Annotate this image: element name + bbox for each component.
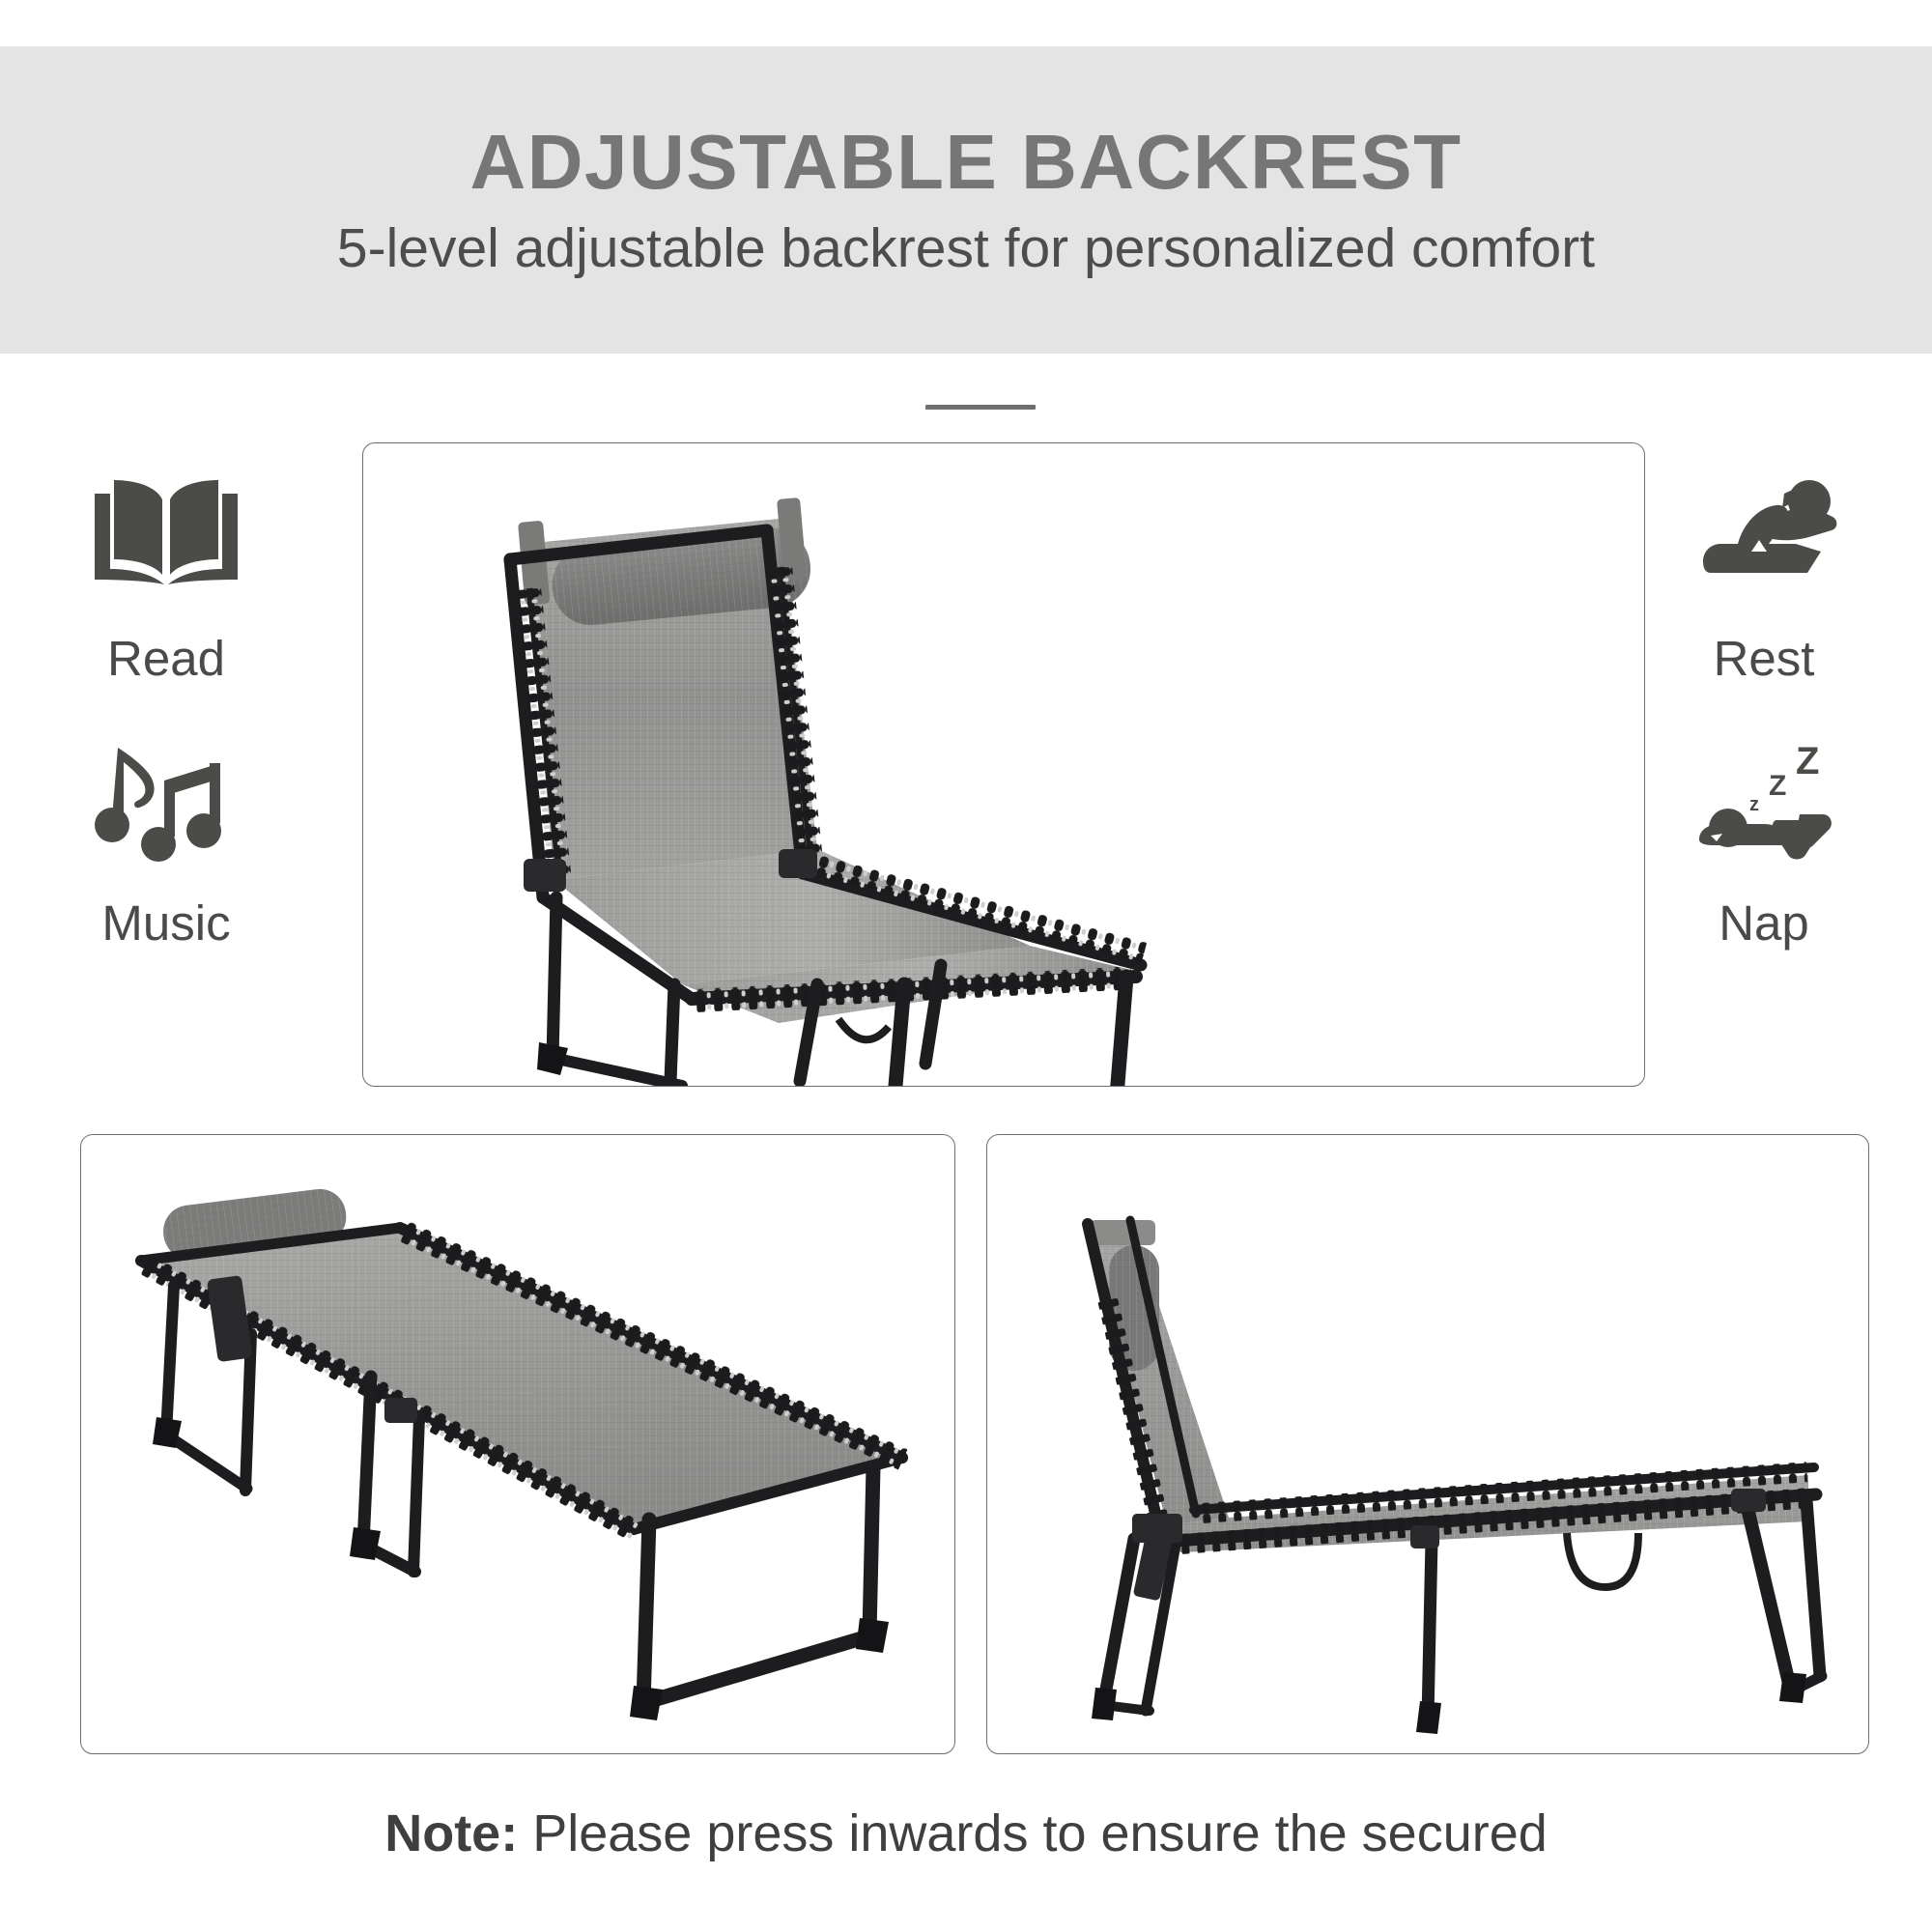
music-notes-icon: [79, 717, 253, 881]
feature-rest-label: Rest: [1714, 634, 1815, 683]
note-text: Please press inwards to ensure the secur…: [518, 1804, 1548, 1862]
sleeping-person-zzz-icon: Z Z z: [1677, 717, 1851, 881]
feature-nap: Z Z z Nap: [1619, 717, 1909, 948]
reclining-person-icon: [1677, 452, 1851, 616]
main-product-image: [363, 443, 1644, 1086]
feature-music: Music: [21, 717, 311, 948]
side-profile-image: [987, 1135, 1868, 1753]
feature-nap-label: Nap: [1719, 898, 1809, 948]
note-line: Note: Please press inwards to ensure the…: [0, 1803, 1932, 1865]
side-profile-panel: [986, 1134, 1869, 1754]
svg-text:Z: Z: [1769, 770, 1786, 802]
feature-read: Read: [21, 452, 311, 683]
main-product-panel: [362, 442, 1645, 1087]
top-divider-dash: [925, 405, 1036, 410]
open-book-icon: [79, 452, 253, 616]
flat-position-panel: [80, 1134, 955, 1754]
flat-position-image: [81, 1135, 954, 1753]
svg-text:Z: Z: [1796, 740, 1819, 782]
page-subtitle: 5-level adjustable backrest for personal…: [337, 218, 1595, 279]
feature-read-label: Read: [107, 634, 225, 683]
header-banner: ADJUSTABLE BACKREST 5-level adjustable b…: [0, 46, 1932, 354]
note-label: Note:: [384, 1804, 518, 1862]
page-title: ADJUSTABLE BACKREST: [469, 122, 1462, 203]
feature-music-label: Music: [101, 898, 230, 948]
feature-rest: Rest: [1619, 452, 1909, 683]
svg-text:z: z: [1749, 794, 1759, 815]
